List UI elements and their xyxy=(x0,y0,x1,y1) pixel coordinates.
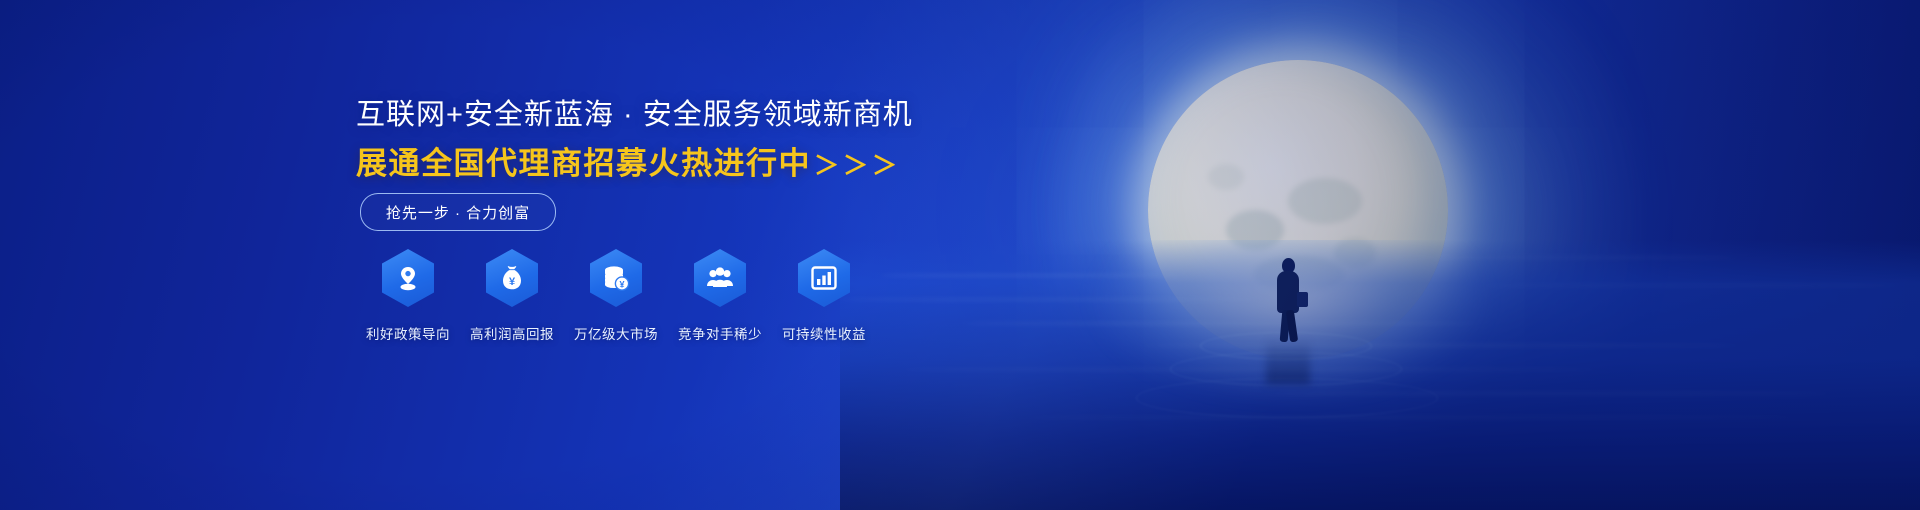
banner-headline: 互联网+安全新蓝海 · 安全服务领域新商机 xyxy=(356,96,913,134)
svg-text:¥: ¥ xyxy=(619,279,624,289)
bar-chart-growth-icon xyxy=(798,249,850,307)
svg-text:¥: ¥ xyxy=(509,276,516,288)
feature-item-sustainable[interactable]: 可持续性收益 xyxy=(772,249,876,359)
feature-item-policy[interactable]: 利好政策导向 xyxy=(356,249,460,359)
chevron-right-arrows-icon: ＞＞＞ xyxy=(814,146,901,182)
banner-subheadline: 展通全国代理商招募火热进行中 ＞＞＞ xyxy=(356,144,901,184)
feature-item-market[interactable]: ¥ 万亿级大市场 xyxy=(564,249,668,359)
feature-label: 利好政策导向 xyxy=(366,323,450,343)
people-group-icon xyxy=(694,249,746,307)
location-pin-icon xyxy=(382,249,434,307)
person-reflection xyxy=(1266,338,1310,384)
feature-label: 高利润高回报 xyxy=(470,323,554,343)
feature-label: 可持续性收益 xyxy=(782,323,866,343)
money-bag-yuan-icon: ¥ xyxy=(486,249,538,307)
cta-pill-label: 抢先一步 · 合力创富 xyxy=(386,202,530,223)
banner-subheadline-text: 展通全国代理商招募火热进行中 xyxy=(356,144,811,184)
feature-item-profit[interactable]: ¥ 高利润高回报 xyxy=(460,249,564,359)
cta-pill-button[interactable]: 抢先一步 · 合力创富 xyxy=(360,193,556,231)
coin-stack-yuan-icon: ¥ xyxy=(590,249,642,307)
person-walking-silhouette-icon xyxy=(1268,258,1308,342)
feature-label: 万亿级大市场 xyxy=(574,323,658,343)
promo-banner: 互联网+安全新蓝海 · 安全服务领域新商机 展通全国代理商招募火热进行中 ＞＞＞… xyxy=(0,0,1920,510)
feature-item-competition[interactable]: 竞争对手稀少 xyxy=(668,249,772,359)
feature-label: 竞争对手稀少 xyxy=(678,323,762,343)
feature-list: 利好政策导向 ¥ 高利润高回报 xyxy=(356,249,876,359)
banner-content: 互联网+安全新蓝海 · 安全服务领域新商机 展通全国代理商招募火热进行中 ＞＞＞… xyxy=(356,0,1056,510)
